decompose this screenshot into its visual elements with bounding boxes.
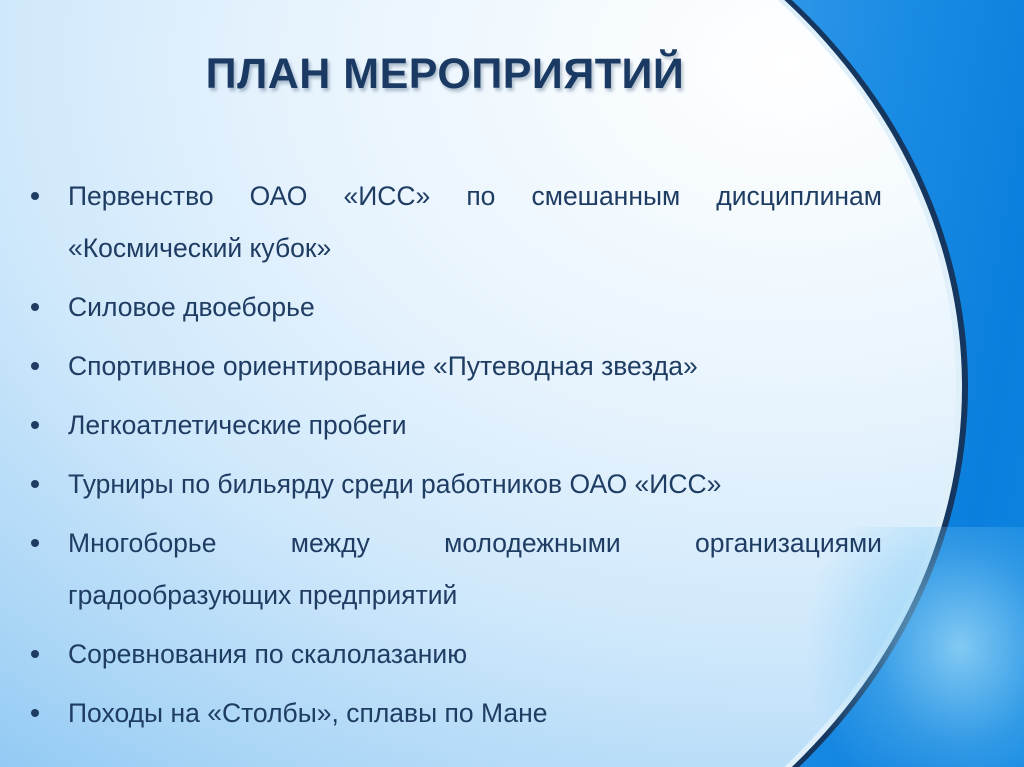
- bullet-dot-icon: [31, 539, 39, 547]
- list-item: Турниры по бильярду среди работников ОАО…: [26, 458, 882, 510]
- list-item-label: Спортивное ориентирование «Путеводная зв…: [68, 340, 882, 392]
- bullet-dot-icon: [31, 421, 39, 429]
- list-item: Соревнования по скалолазанию: [26, 628, 882, 680]
- list-item: Спортивное ориентирование «Путеводная зв…: [26, 340, 882, 392]
- list-item: Легкоатлетические пробеги: [26, 399, 882, 451]
- list-item-label: Силовое двоеборье: [68, 281, 882, 333]
- bullet-dot-icon: [31, 709, 39, 717]
- bullet-dot-icon: [31, 480, 39, 488]
- list-item-label: Походы на «Столбы», сплавы по Мане: [68, 687, 882, 739]
- bullet-list: Первенство ОАО «ИСС» по смешанным дисцип…: [26, 170, 906, 746]
- page-title: ПЛАН МЕРОПРИЯТИЙ: [0, 50, 890, 99]
- slide-content: ПЛАН МЕРОПРИЯТИЙ Первенство ОАО «ИСС» по…: [0, 0, 1024, 767]
- bullet-dot-icon: [31, 362, 39, 370]
- bullet-dot-icon: [31, 192, 39, 200]
- list-item: Многоборье между молодежными организация…: [26, 517, 882, 621]
- bullet-dot-icon: [31, 650, 39, 658]
- list-item: Первенство ОАО «ИСС» по смешанным дисцип…: [26, 170, 882, 274]
- list-item-label: Соревнования по скалолазанию: [68, 628, 882, 680]
- list-item-label: Первенство ОАО «ИСС» по смешанным дисцип…: [68, 170, 882, 274]
- list-item-label: Многоборье между молодежными организация…: [68, 517, 882, 621]
- list-item: Походы на «Столбы», сплавы по Мане: [26, 687, 882, 739]
- list-item: Силовое двоеборье: [26, 281, 882, 333]
- list-item-label: Турниры по бильярду среди работников ОАО…: [68, 458, 882, 510]
- list-item-label: Легкоатлетические пробеги: [68, 399, 882, 451]
- bullet-dot-icon: [31, 303, 39, 311]
- presentation-slide: ПЛАН МЕРОПРИЯТИЙ Первенство ОАО «ИСС» по…: [0, 0, 1024, 767]
